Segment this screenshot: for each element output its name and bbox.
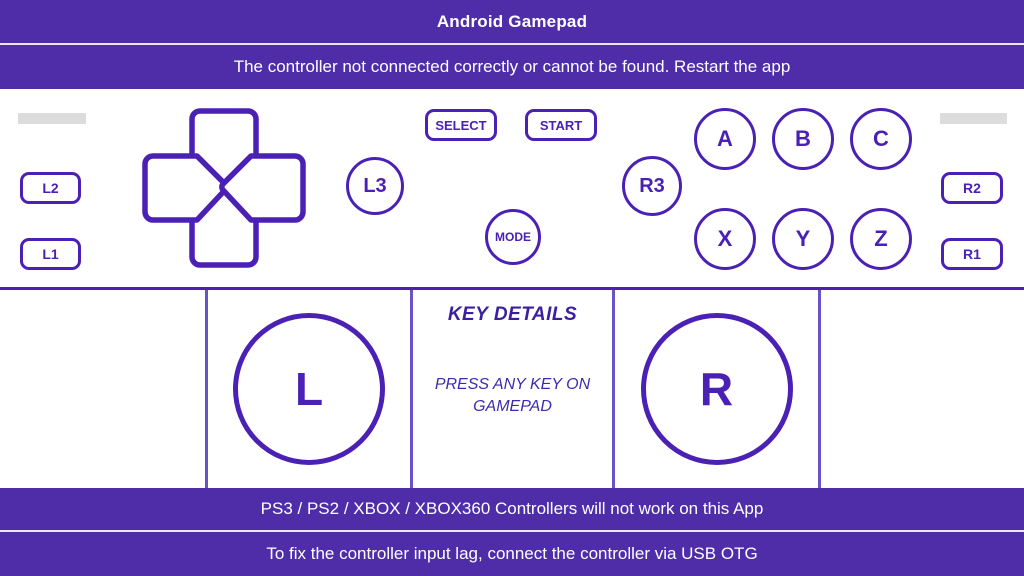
gamepad-diagram: L2 L1 L3 SELECT START [0,89,1024,287]
android-gamepad-app: Android Gamepad The controller not conne… [0,0,1024,576]
button-r2-label: R2 [963,181,981,195]
left-grey-indicator-bar [18,113,86,124]
button-select-label: SELECT [435,119,486,132]
strip-cell-right-analog: R [615,290,818,488]
button-r2[interactable]: R2 [941,172,1003,204]
footer-notice-controllers-text: PS3 / PS2 / XBOX / XBOX360 Controllers w… [261,499,764,519]
button-l2[interactable]: L2 [20,172,81,204]
strip-cell-empty-left [0,290,205,488]
button-a[interactable]: A [694,108,756,170]
button-a-label: A [717,128,733,150]
strip-cell-empty-right [821,290,1024,488]
button-c[interactable]: C [850,108,912,170]
stick-button-l3-label: L3 [363,176,386,196]
key-details-prompt: PRESS ANY KEY ON GAMEPAD [435,374,590,417]
button-mode[interactable]: MODE [485,209,541,265]
stick-button-l3[interactable]: L3 [346,157,404,215]
button-r1-label: R1 [963,247,981,261]
right-grey-indicator-bar [940,113,1007,124]
connection-status-text: The controller not connected correctly o… [234,57,791,77]
button-z-label: Z [874,228,887,250]
button-x-label: X [718,228,733,250]
button-r1[interactable]: R1 [941,238,1003,270]
stick-button-r3-label: R3 [639,176,665,196]
button-l2-label: L2 [42,181,58,195]
button-z[interactable]: Z [850,208,912,270]
button-start-label: START [540,119,582,132]
analog-stick-right[interactable]: R [641,313,793,465]
button-b-label: B [795,128,811,150]
button-select[interactable]: SELECT [425,109,497,141]
key-details-strip: L KEY DETAILS PRESS ANY KEY ON GAMEPAD R [0,287,1024,488]
key-details-title: KEY DETAILS [448,304,577,326]
button-x[interactable]: X [694,208,756,270]
footer-notice-controllers: PS3 / PS2 / XBOX / XBOX360 Controllers w… [0,488,1024,530]
connection-status-banner: The controller not connected correctly o… [0,45,1024,89]
app-title-bar: Android Gamepad [0,0,1024,43]
analog-stick-left-label: L [295,366,323,412]
button-y-label: Y [796,228,811,250]
button-start[interactable]: START [525,109,597,141]
key-details-prompt-line2: GAMEPAD [435,396,590,418]
key-details-prompt-line1: PRESS ANY KEY ON [435,374,590,396]
stick-button-r3[interactable]: R3 [622,156,682,216]
analog-stick-left[interactable]: L [233,313,385,465]
analog-stick-right-label: R [700,366,733,412]
button-c-label: C [873,128,889,150]
page-title: Android Gamepad [437,12,587,32]
footer-notice-otg-text: To fix the controller input lag, connect… [266,544,757,564]
button-l1-label: L1 [42,247,58,261]
footer-notice-otg: To fix the controller input lag, connect… [0,532,1024,576]
dpad[interactable] [140,106,308,270]
button-l1[interactable]: L1 [20,238,81,270]
button-b[interactable]: B [772,108,834,170]
button-mode-label: MODE [495,231,531,243]
strip-cell-key-details: KEY DETAILS PRESS ANY KEY ON GAMEPAD [413,290,612,488]
strip-cell-left-analog: L [208,290,410,488]
button-y[interactable]: Y [772,208,834,270]
